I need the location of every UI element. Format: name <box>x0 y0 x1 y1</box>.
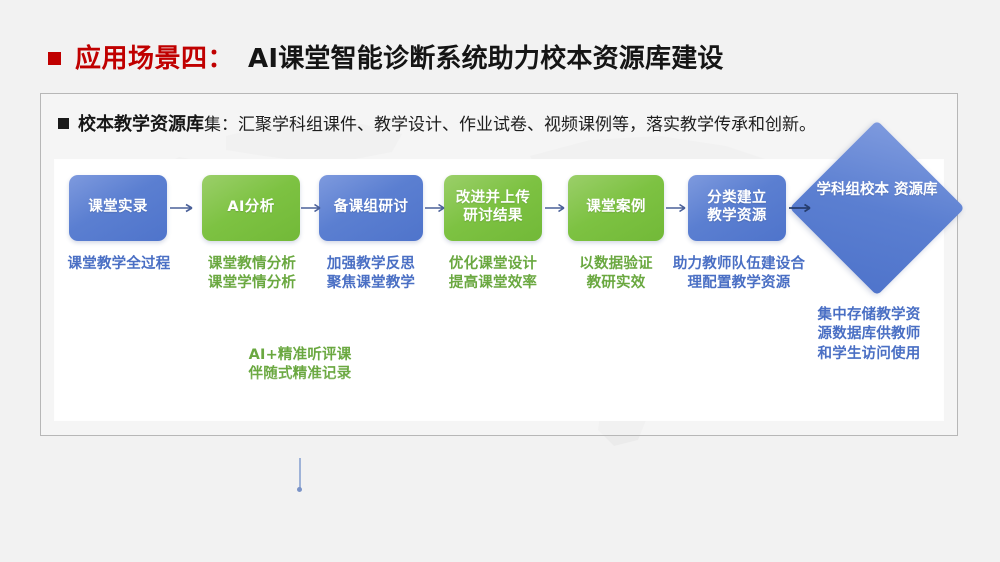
caption-line: 优化课堂设计 <box>435 255 551 274</box>
flow-node-备课组研讨[interactable]: 备课组研讨 <box>319 175 423 241</box>
caption-line: 课堂教情分析 <box>194 255 310 274</box>
flow-caption-3: 加强教学反思 聚焦课堂教学 <box>313 255 429 294</box>
subtitle-strong-text: 校本教学资源库 <box>78 114 204 135</box>
flow-arrow-5 <box>666 202 692 214</box>
caption-line: 教研实效 <box>565 274 667 293</box>
flow-node-label-line1: 分类建立 <box>707 190 767 208</box>
flow-caption-1: 课堂教学全过程 <box>59 255 179 274</box>
flow-node-课堂实录[interactable]: 课堂实录 <box>69 175 167 241</box>
caption-line: 和学生访问使用 <box>806 345 932 364</box>
flow-subcaption-ai: AI+精准听评课 伴随式精准记录 <box>235 346 365 385</box>
flow-node-label-line2: 教学资源 <box>707 208 767 226</box>
flow-caption-2: 课堂教情分析 课堂学情分析 <box>194 255 310 294</box>
flow-arrow-1 <box>170 202 200 214</box>
flow-caption-5: 以数据验证 教研实效 <box>565 255 667 294</box>
caption-line: 以数据验证 <box>565 255 667 274</box>
flow-node-改进并上传研讨结果[interactable]: 改进并上传 研讨结果 <box>444 175 542 241</box>
subtitle-bullet-icon <box>58 118 69 129</box>
subtitle-rest-text: 集：汇聚学科组课件、教学设计、作业试卷、视频课例等，落实教学传承和创新。 <box>204 115 816 135</box>
caption-line: 课堂教学全过程 <box>59 255 179 274</box>
caption-line: 助力教师队伍建设合 <box>667 255 811 274</box>
flow-node-label: 课堂实录 <box>88 199 148 217</box>
title-black-text: AI课堂智能诊断系统助力校本资源库建设 <box>248 38 724 75</box>
caption-line: 聚焦课堂教学 <box>313 274 429 293</box>
caption-line: 提高课堂效率 <box>435 274 551 293</box>
caption-connector-line <box>298 458 301 494</box>
subtitle: 校本教学资源库集：汇聚学科组课件、教学设计、作业试卷、视频课例等，落实教学传承和… <box>58 110 816 136</box>
flow-node-label: AI分析 <box>227 199 274 217</box>
title-red-text: 应用场景四： <box>75 38 234 75</box>
flow-caption-7: 集中存储教学资 源数据库供教师 和学生访问使用 <box>806 306 932 364</box>
flow-arrow-2 <box>301 202 327 214</box>
diagram-card: 课堂实录 AI分析 备课组研讨 改进并上传 研讨结果 课堂案例 分类建立 教学资… <box>55 160 943 420</box>
caption-line: 伴随式精准记录 <box>235 365 365 384</box>
connector-dot-icon <box>297 487 302 492</box>
caption-line: 课堂学情分析 <box>194 274 310 293</box>
flow-node-label-line1: 改进并上传 <box>456 190 531 208</box>
page-title: 应用场景四： AI课堂智能诊断系统助力校本资源库建设 <box>48 38 724 75</box>
flow-arrow-3 <box>425 202 451 214</box>
title-bullet-icon <box>48 52 61 65</box>
connector-line-segment <box>299 458 301 488</box>
flow-node-课堂案例[interactable]: 课堂案例 <box>568 175 664 241</box>
caption-line: 理配置教学资源 <box>667 274 811 293</box>
flow-arrow-4 <box>545 202 571 214</box>
flow-caption-6: 助力教师队伍建设合 理配置教学资源 <box>667 255 811 294</box>
caption-line: 加强教学反思 <box>313 255 429 274</box>
flow-node-label: 备课组研讨 <box>334 199 409 217</box>
flow-node-分类建立教学资源[interactable]: 分类建立 教学资源 <box>688 175 786 241</box>
flow-arrow-6 <box>789 202 817 214</box>
flow-caption-4: 优化课堂设计 提高课堂效率 <box>435 255 551 294</box>
caption-line: 源数据库供教师 <box>806 325 932 344</box>
flow-node-label: 课堂案例 <box>586 199 646 217</box>
flow-node-label-line2: 研讨结果 <box>463 208 523 226</box>
caption-line: AI+精准听评课 <box>235 346 365 365</box>
caption-line: 集中存储教学资 <box>806 306 932 325</box>
flow-node-AI分析[interactable]: AI分析 <box>202 175 300 241</box>
